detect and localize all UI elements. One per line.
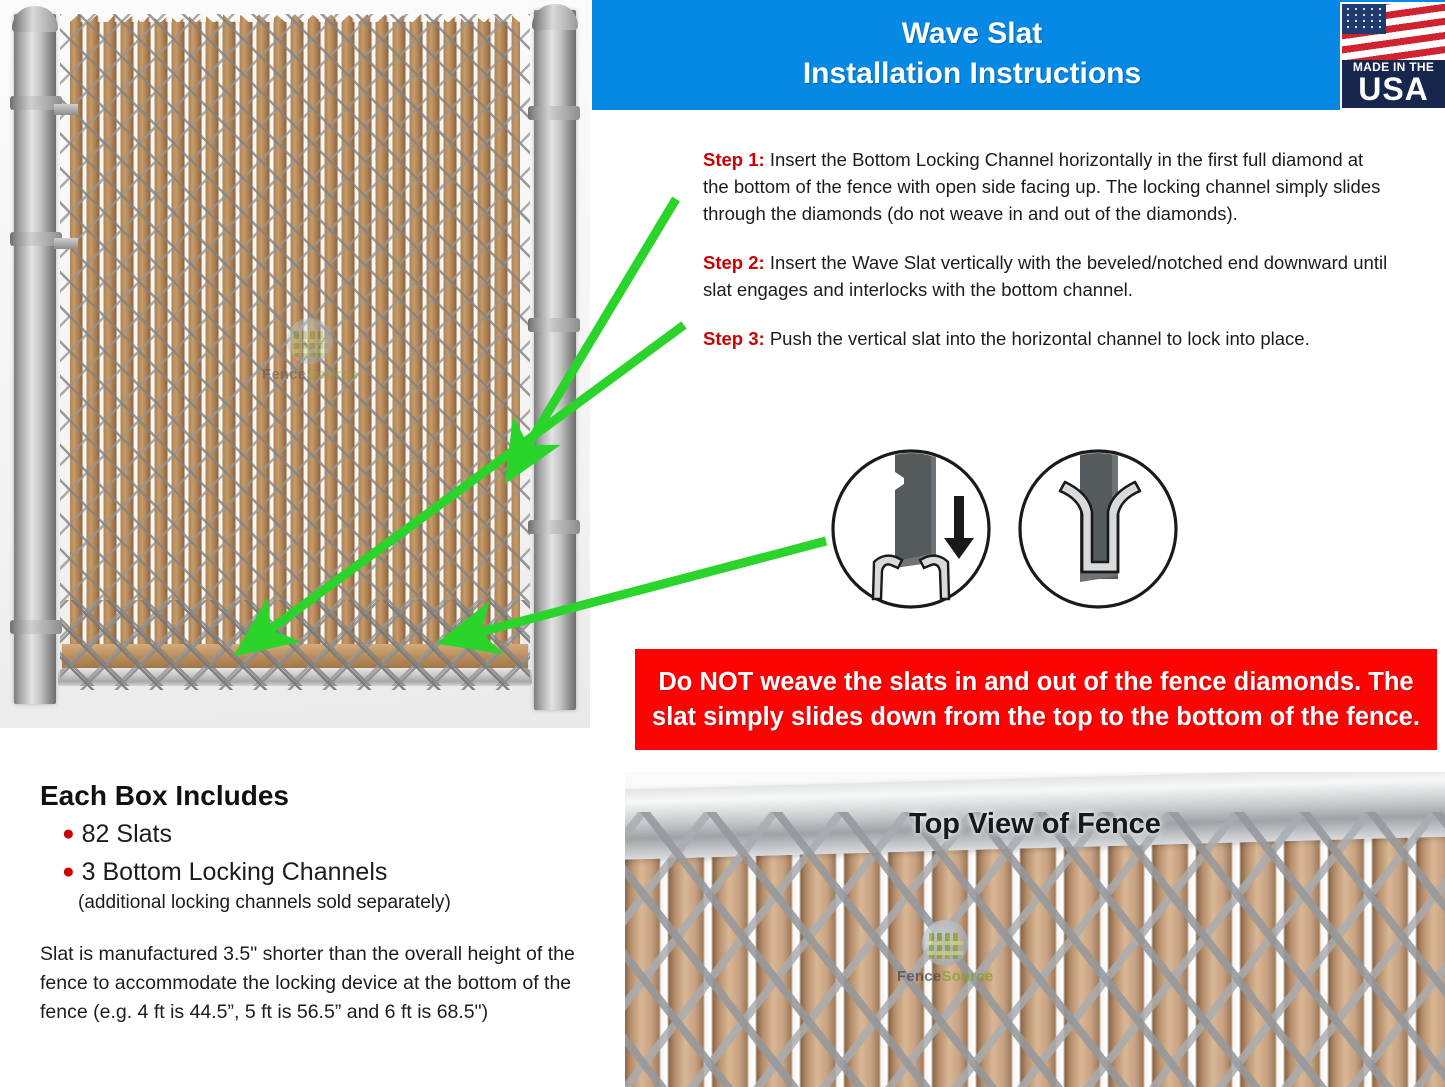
watermark-text-part1: Fence bbox=[262, 366, 306, 383]
step-2-text: Insert the Wave Slat vertically with the… bbox=[703, 252, 1387, 300]
fencesource-watermark: FenceSource bbox=[897, 920, 993, 985]
fence-picket-icon bbox=[922, 920, 968, 966]
wave-slat-instruction-sheet: FenceSource Wave Slat Installation Instr… bbox=[0, 0, 1445, 1087]
bullet-icon: ● bbox=[62, 822, 75, 845]
fencesource-watermark: FenceSource bbox=[262, 318, 358, 383]
slat-height-note: Slat is manufactured 3.5" shorter than t… bbox=[40, 940, 600, 1027]
warning-text: Do NOT weave the slats in and out of the… bbox=[635, 665, 1437, 735]
fence-picket-icon bbox=[287, 318, 333, 364]
warning-banner: Do NOT weave the slats in and out of the… bbox=[632, 646, 1440, 753]
step-item-2: Step 2: Insert the Wave Slat vertically … bbox=[703, 249, 1393, 303]
watermark-text: FenceSource bbox=[262, 366, 358, 383]
made-in-usa-badge: MADE IN THE USA bbox=[1340, 2, 1445, 110]
post-band bbox=[10, 620, 62, 634]
watermark-text-part2: Source bbox=[941, 968, 993, 985]
top-view-title: Top View of Fence bbox=[625, 808, 1445, 841]
box-item-1-label: 82 Slats bbox=[82, 820, 172, 848]
post-band bbox=[528, 520, 580, 534]
chain-link-mesh-lower bbox=[60, 600, 530, 690]
step-1-label: Step 1: bbox=[703, 149, 765, 170]
step-1-text: Insert the Bottom Locking Channel horizo… bbox=[703, 149, 1380, 224]
fence-photo: FenceSource bbox=[0, 0, 590, 728]
rail-brace bbox=[54, 238, 78, 249]
bullet-icon: ● bbox=[62, 860, 75, 883]
box-item-2-label: 3 Bottom Locking Channels bbox=[82, 858, 388, 886]
steps-list: Step 1: Insert the Bottom Locking Channe… bbox=[703, 146, 1393, 374]
step-2-label: Step 2: bbox=[703, 252, 765, 273]
post-band bbox=[528, 106, 580, 120]
each-box-includes-section: Each Box Includes ● 82 Slats ● 3 Bottom … bbox=[40, 780, 600, 1027]
top-view-photo: Top View of Fence FenceSource bbox=[625, 772, 1445, 1087]
usa-flag-icon bbox=[1342, 4, 1445, 60]
step-item-1: Step 1: Insert the Bottom Locking Channe… bbox=[703, 146, 1393, 227]
page-title: Wave Slat Installation Instructions bbox=[592, 14, 1352, 94]
slat-lock-diagrams bbox=[828, 444, 1188, 614]
title-line-1: Wave Slat bbox=[592, 14, 1352, 54]
rail-brace bbox=[54, 104, 78, 115]
fence-post-left bbox=[14, 14, 56, 704]
box-item-1: ● 82 Slats bbox=[62, 816, 600, 852]
title-line-2: Installation Instructions bbox=[592, 54, 1352, 94]
step-item-3: Step 3: Push the vertical slat into the … bbox=[703, 325, 1393, 352]
box-subnote: (additional locking channels sold separa… bbox=[78, 892, 600, 914]
step-3-label: Step 3: bbox=[703, 328, 765, 349]
step-3-text: Push the vertical slat into the horizont… bbox=[765, 328, 1310, 349]
post-band bbox=[528, 318, 580, 332]
watermark-text-part1: Fence bbox=[897, 968, 941, 985]
box-heading: Each Box Includes bbox=[40, 780, 600, 812]
badge-line-2: USA bbox=[1342, 72, 1445, 106]
box-item-2: ● 3 Bottom Locking Channels bbox=[62, 854, 600, 890]
chain-link-mesh-top-view bbox=[625, 812, 1445, 1087]
watermark-text-part2: Source bbox=[306, 366, 358, 383]
diagram-slat-locked bbox=[1020, 444, 1176, 607]
diagram-slat-inserting bbox=[833, 444, 989, 607]
watermark-text: FenceSource bbox=[897, 968, 993, 985]
